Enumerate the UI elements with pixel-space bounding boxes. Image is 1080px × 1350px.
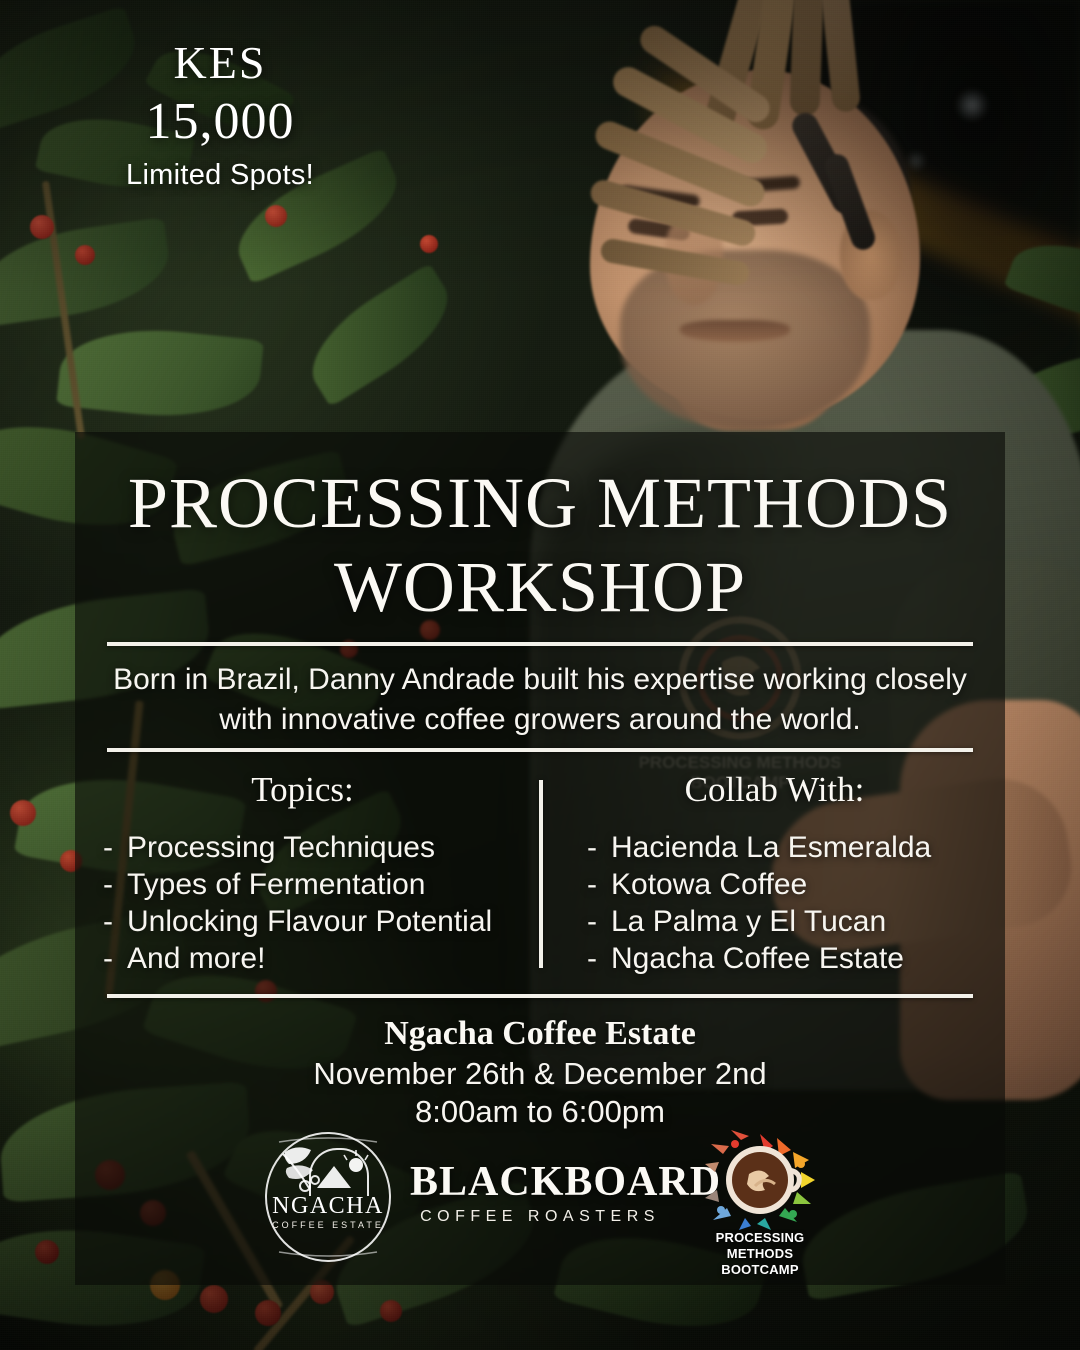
divider-top xyxy=(107,642,973,646)
topics-column: Topics: -Processing Techniques -Types of… xyxy=(75,770,530,978)
coffee-cherry xyxy=(380,1300,402,1322)
limited-spots-note: Limited Spots! xyxy=(40,159,400,192)
coffee-cherry xyxy=(10,800,36,826)
two-column-section: Topics: -Processing Techniques -Types of… xyxy=(75,770,1005,985)
list-item-label: Processing Techniques xyxy=(127,830,435,867)
bullet-dash: - xyxy=(103,941,113,978)
title-line-1: PROCESSING METHODS xyxy=(75,462,1005,546)
bullet-dash: - xyxy=(587,867,597,904)
coffee-cherry xyxy=(35,1240,59,1264)
list-item-label: Ngacha Coffee Estate xyxy=(611,941,904,978)
list-item-label: And more! xyxy=(127,941,265,978)
bootcamp-line-1: PROCESSING METHODS xyxy=(687,1230,833,1262)
price-amount: 15,000 xyxy=(40,87,400,157)
event-time: 8:00am to 6:00pm xyxy=(75,1093,1005,1131)
list-item-label: Unlocking Flavour Potential xyxy=(127,904,492,941)
blackboard-logo: BLACKBOARD COFFEE ROASTERS xyxy=(410,1160,670,1226)
coffee-cherry xyxy=(200,1285,228,1313)
dreadlock xyxy=(789,0,824,116)
topics-list: -Processing Techniques -Types of Ferment… xyxy=(75,830,530,978)
divider-middle xyxy=(107,748,973,752)
list-item: -Unlocking Flavour Potential xyxy=(103,904,530,941)
event-details: Ngacha Coffee Estate November 26th & Dec… xyxy=(75,1014,1005,1132)
coffee-cherry xyxy=(30,215,54,239)
list-item: -Hacienda La Esmeralda xyxy=(587,830,1002,867)
collab-column: Collab With: -Hacienda La Esmeralda -Kot… xyxy=(547,770,1002,978)
poster: PROCESSING METHODS BOOTCAMP xyxy=(0,0,1080,1350)
coffee-cherry xyxy=(420,235,438,253)
mouth xyxy=(680,320,790,342)
sun-icon xyxy=(349,1158,363,1172)
bullet-dash: - xyxy=(587,941,597,978)
bullet-dash: - xyxy=(587,830,597,867)
blackboard-wordmark: BLACKBOARD xyxy=(410,1160,670,1204)
price-block: KES 15,000 Limited Spots! xyxy=(40,40,400,192)
list-item: -Kotowa Coffee xyxy=(587,867,1002,904)
bootcamp-wordmark: PROCESSING METHODS BOOTCAMP xyxy=(687,1230,833,1278)
speaker-description: Born in Brazil, Danny Andrade built his … xyxy=(105,660,975,740)
rainbow-splatter-icon xyxy=(705,1130,815,1230)
logo-row: NGACHA COFFEE ESTATE BLACKBOARD COFFEE R… xyxy=(75,1132,1005,1277)
list-item: -Types of Fermentation xyxy=(103,867,530,904)
venue-name: Ngacha Coffee Estate xyxy=(75,1014,1005,1055)
list-item: -Ngacha Coffee Estate xyxy=(587,941,1002,978)
bootcamp-logo: PROCESSING METHODS BOOTCAMP xyxy=(695,1130,825,1275)
collab-list: -Hacienda La Esmeralda -Kotowa Coffee -L… xyxy=(547,830,1002,978)
price-currency: KES xyxy=(40,40,400,87)
bullet-dash: - xyxy=(587,904,597,941)
event-dates: November 26th & December 2nd xyxy=(75,1055,1005,1093)
collab-heading: Collab With: xyxy=(547,770,1002,810)
bullet-dash: - xyxy=(103,867,113,904)
list-item-label: La Palma y El Tucan xyxy=(611,904,886,941)
list-item-label: Types of Fermentation xyxy=(127,867,425,904)
title-line-2: WORKSHOP xyxy=(75,546,1005,630)
list-item-label: Hacienda La Esmeralda xyxy=(611,830,931,867)
ngacha-logo: NGACHA COFFEE ESTATE xyxy=(265,1132,391,1262)
divider-vertical xyxy=(539,780,543,968)
mountain-icon xyxy=(317,1166,351,1188)
ngacha-wordmark: NGACHA xyxy=(265,1194,391,1218)
poster-content: PROCESSING METHODS WORKSHOP Born in Braz… xyxy=(75,432,1005,1285)
ngacha-tagline: COFFEE ESTATE xyxy=(265,1220,391,1230)
coffee-cherry xyxy=(75,245,95,265)
page-title: PROCESSING METHODS WORKSHOP xyxy=(75,462,1005,629)
divider-bottom xyxy=(107,994,973,998)
list-item: -And more! xyxy=(103,941,530,978)
blackboard-tagline: COFFEE ROASTERS xyxy=(410,1208,670,1226)
list-item: -Processing Techniques xyxy=(103,830,530,867)
coffee-cherry xyxy=(255,1300,281,1326)
list-item: -La Palma y El Tucan xyxy=(587,904,1002,941)
bootcamp-line-2: BOOTCAMP xyxy=(687,1262,833,1278)
bullet-dash: - xyxy=(103,904,113,941)
bullet-dash: - xyxy=(103,830,113,867)
coffee-cherry xyxy=(265,205,287,227)
topics-heading: Topics: xyxy=(75,770,530,810)
list-item-label: Kotowa Coffee xyxy=(611,867,807,904)
